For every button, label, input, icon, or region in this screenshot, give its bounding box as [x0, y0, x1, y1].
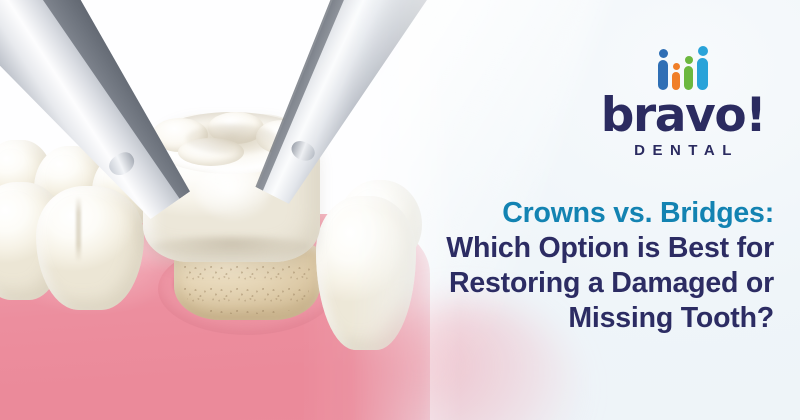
figure-light-blue-body	[697, 58, 708, 90]
logo-wordmark: bravo!	[590, 94, 776, 139]
figure-green-head	[685, 56, 693, 64]
headline-line-3: Restoring a Damaged or	[344, 266, 774, 301]
bravo-dental-logo[interactable]: bravo! DENTAL	[590, 46, 776, 159]
crown-specular-highlight	[196, 166, 270, 218]
figure-orange	[672, 63, 680, 90]
figure-blue	[658, 49, 668, 90]
headline-line-2: Which Option is Best for	[344, 231, 774, 266]
figure-blue-head	[659, 49, 668, 58]
figure-light-blue-head	[698, 46, 708, 56]
blog-banner: bravo! DENTAL Crowns vs. Bridges: Which …	[0, 0, 800, 420]
headline-line-1: Crowns vs. Bridges:	[344, 196, 774, 231]
figure-blue-body	[658, 60, 668, 90]
figure-green	[684, 56, 693, 90]
four-figures-icon	[590, 46, 776, 90]
crown-margin-shadow	[152, 236, 312, 258]
molar-left-groove	[76, 196, 81, 262]
figure-light-blue	[697, 46, 708, 90]
headline: Crowns vs. Bridges: Which Option is Best…	[344, 196, 774, 336]
molar-left-2	[36, 186, 144, 310]
figure-orange-head	[673, 63, 680, 70]
crown-central-fossa	[186, 124, 278, 154]
figure-green-body	[684, 66, 693, 90]
stump-texture	[182, 262, 310, 314]
headline-line-4: Missing Tooth?	[344, 301, 774, 336]
logo-subtext: DENTAL	[590, 142, 776, 159]
